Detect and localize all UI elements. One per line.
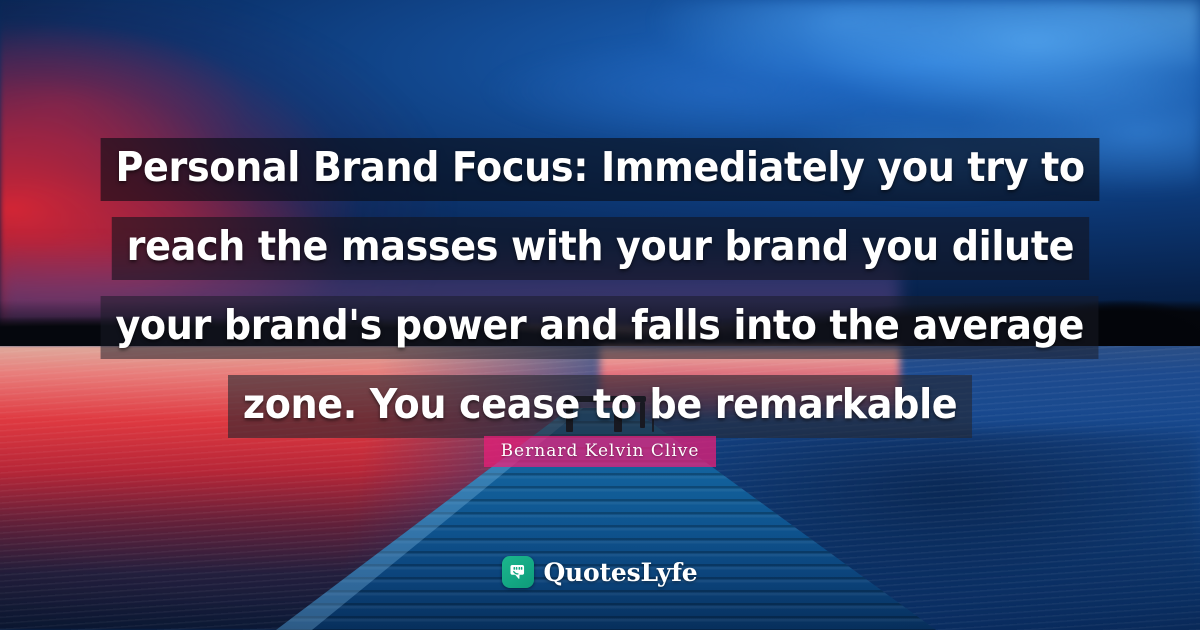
quote-text-block: Personal Brand Focus: Immediately you tr… (0, 138, 1200, 438)
author-attribution: Bernard Kelvin Clive (0, 436, 1200, 467)
quote-line: your brand's power and falls into the av… (101, 296, 1099, 359)
site-logo[interactable]: QuotesLyfe (0, 556, 1200, 588)
site-name: QuotesLyfe (543, 558, 697, 587)
author-name: Bernard Kelvin Clive (484, 436, 717, 467)
quote-line: Personal Brand Focus: Immediately you tr… (100, 138, 1099, 201)
quote-bubble-icon (502, 556, 534, 588)
quote-line: reach the masses with your brand you dil… (111, 217, 1088, 280)
quote-line: zone. You cease to be remarkable (228, 375, 972, 438)
quote-card: Personal Brand Focus: Immediately you tr… (0, 0, 1200, 630)
